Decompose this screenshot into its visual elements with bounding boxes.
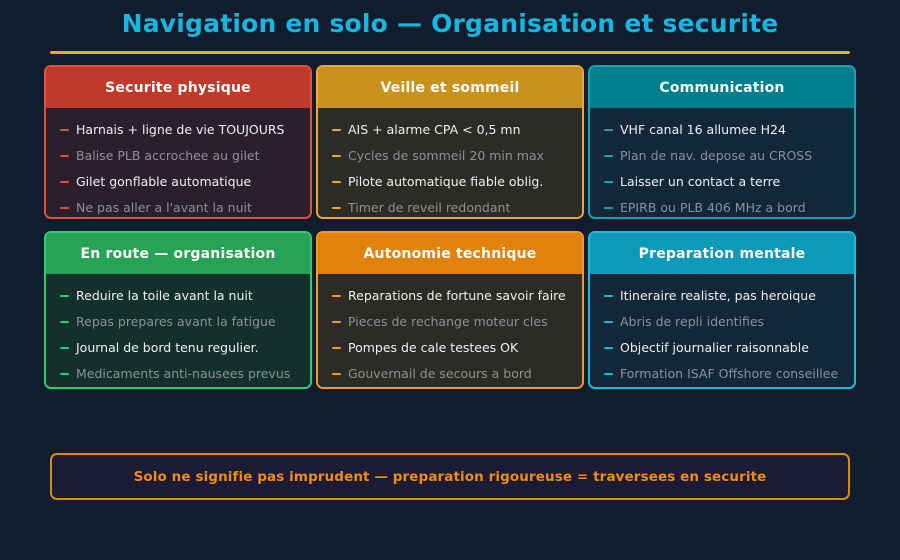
list-item: EPIRB ou PLB 406 MHz a bord xyxy=(590,195,854,219)
list-item: Formation ISAF Offshore conseillee xyxy=(590,361,854,387)
card-item-list: VHF canal 16 allumee H24Plan de nav. dep… xyxy=(590,108,854,219)
list-item: Abris de repli identifies xyxy=(590,309,854,335)
dash-bullet-icon xyxy=(60,373,69,375)
list-item: Timer de reveil redondant xyxy=(318,195,582,219)
list-item-label: Laisser un contact a terre xyxy=(620,169,780,195)
card: Veille et sommeilAIS + alarme CPA < 0,5 … xyxy=(316,65,584,219)
dash-bullet-icon xyxy=(332,181,341,183)
card-header: Communication xyxy=(590,67,854,108)
dash-bullet-icon xyxy=(60,155,69,157)
list-item-label: Pilote automatique fiable oblig. xyxy=(348,169,543,195)
list-item-label: Itineraire realiste, pas heroique xyxy=(620,283,816,309)
dash-bullet-icon xyxy=(604,347,613,349)
dash-bullet-icon xyxy=(604,129,613,131)
dash-bullet-icon xyxy=(604,181,613,183)
list-item: Pilote automatique fiable oblig. xyxy=(318,169,582,195)
list-item-label: Gouvernail de secours a bord xyxy=(348,361,532,387)
list-item: Cycles de sommeil 20 min max xyxy=(318,143,582,169)
card: Preparation mentaleItineraire realiste, … xyxy=(588,231,856,389)
dash-bullet-icon xyxy=(604,321,613,323)
card-title: Communication xyxy=(659,80,784,96)
dash-bullet-icon xyxy=(604,295,613,297)
dash-bullet-icon xyxy=(60,347,69,349)
list-item: Gilet gonflable automatique xyxy=(46,169,310,195)
list-item: Itineraire realiste, pas heroique xyxy=(590,283,854,309)
list-item: Laisser un contact a terre xyxy=(590,169,854,195)
dash-bullet-icon xyxy=(332,347,341,349)
list-item-label: Journal de bord tenu regulier. xyxy=(76,335,259,361)
card-grid: Securite physiqueHarnais + ligne de vie … xyxy=(44,65,856,389)
card-header: Securite physique xyxy=(46,67,310,108)
list-item-label: Medicaments anti-nausees prevus xyxy=(76,361,290,387)
card-item-list: Harnais + ligne de vie TOUJOURSBalise PL… xyxy=(46,108,310,219)
footer-banner: Solo ne signifie pas imprudent — prepara… xyxy=(50,453,850,500)
card-header: Veille et sommeil xyxy=(318,67,582,108)
list-item: Gouvernail de secours a bord xyxy=(318,361,582,387)
list-item-label: Reduire la toile avant la nuit xyxy=(76,283,253,309)
title-block: Navigation en solo — Organisation et sec… xyxy=(0,0,900,54)
list-item-label: Repas prepares avant la fatigue xyxy=(76,309,276,335)
dash-bullet-icon xyxy=(332,295,341,297)
list-item: Journal de bord tenu regulier. xyxy=(46,335,310,361)
page-title: Navigation en solo — Organisation et sec… xyxy=(0,9,900,39)
list-item: Balise PLB accrochee au gilet xyxy=(46,143,310,169)
list-item: Harnais + ligne de vie TOUJOURS xyxy=(46,117,310,143)
card-title: Autonomie technique xyxy=(364,246,537,262)
dash-bullet-icon xyxy=(332,373,341,375)
list-item: Objectif journalier raisonnable xyxy=(590,335,854,361)
card-header: Preparation mentale xyxy=(590,233,854,274)
card-item-list: Reparations de fortune savoir fairePiece… xyxy=(318,274,582,389)
dash-bullet-icon xyxy=(332,129,341,131)
list-item-label: VHF canal 16 allumee H24 xyxy=(620,117,786,143)
list-item-label: Objectif journalier raisonnable xyxy=(620,335,809,361)
list-item: Reparations de fortune savoir faire xyxy=(318,283,582,309)
list-item-label: Cycles de sommeil 20 min max xyxy=(348,143,544,169)
dash-bullet-icon xyxy=(60,129,69,131)
list-item: Pieces de rechange moteur cles xyxy=(318,309,582,335)
list-item-label: Ne pas aller a l'avant la nuit xyxy=(76,195,252,219)
card-item-list: AIS + alarme CPA < 0,5 mnCycles de somme… xyxy=(318,108,582,219)
dash-bullet-icon xyxy=(332,155,341,157)
card-title: Securite physique xyxy=(105,80,251,96)
list-item: Plan de nav. depose au CROSS xyxy=(590,143,854,169)
list-item-label: Abris de repli identifies xyxy=(620,309,764,335)
card-item-list: Reduire la toile avant la nuitRepas prep… xyxy=(46,274,310,389)
list-item-label: AIS + alarme CPA < 0,5 mn xyxy=(348,117,521,143)
card: Autonomie techniqueReparations de fortun… xyxy=(316,231,584,389)
list-item: VHF canal 16 allumee H24 xyxy=(590,117,854,143)
dash-bullet-icon xyxy=(604,155,613,157)
title-underline-rule xyxy=(50,51,850,54)
dash-bullet-icon xyxy=(60,295,69,297)
dash-bullet-icon xyxy=(60,321,69,323)
dash-bullet-icon xyxy=(604,373,613,375)
list-item-label: Reparations de fortune savoir faire xyxy=(348,283,566,309)
list-item-label: Gilet gonflable automatique xyxy=(76,169,251,195)
list-item-label: Balise PLB accrochee au gilet xyxy=(76,143,260,169)
dash-bullet-icon xyxy=(604,207,613,209)
card-header: En route — organisation xyxy=(46,233,310,274)
list-item: Medicaments anti-nausees prevus xyxy=(46,361,310,387)
list-item-label: Timer de reveil redondant xyxy=(348,195,510,219)
slide-root: Navigation en solo — Organisation et sec… xyxy=(0,0,900,560)
card-header: Autonomie technique xyxy=(318,233,582,274)
list-item-label: Pompes de cale testees OK xyxy=(348,335,518,361)
dash-bullet-icon xyxy=(60,181,69,183)
list-item: Ne pas aller a l'avant la nuit xyxy=(46,195,310,219)
list-item: Reduire la toile avant la nuit xyxy=(46,283,310,309)
list-item-label: Plan de nav. depose au CROSS xyxy=(620,143,812,169)
list-item-label: Harnais + ligne de vie TOUJOURS xyxy=(76,117,284,143)
list-item: Pompes de cale testees OK xyxy=(318,335,582,361)
card-title: Veille et sommeil xyxy=(380,80,519,96)
list-item: AIS + alarme CPA < 0,5 mn xyxy=(318,117,582,143)
dash-bullet-icon xyxy=(332,321,341,323)
card: Securite physiqueHarnais + ligne de vie … xyxy=(44,65,312,219)
list-item-label: Formation ISAF Offshore conseillee xyxy=(620,361,838,387)
footer-banner-text: Solo ne signifie pas imprudent — prepara… xyxy=(134,469,767,485)
dash-bullet-icon xyxy=(60,207,69,209)
card: En route — organisationReduire la toile … xyxy=(44,231,312,389)
list-item: Repas prepares avant la fatigue xyxy=(46,309,310,335)
card: CommunicationVHF canal 16 allumee H24Pla… xyxy=(588,65,856,219)
card-title: En route — organisation xyxy=(80,246,275,262)
card-item-list: Itineraire realiste, pas heroiqueAbris d… xyxy=(590,274,854,389)
list-item-label: Pieces de rechange moteur cles xyxy=(348,309,548,335)
card-title: Preparation mentale xyxy=(639,246,806,262)
dash-bullet-icon xyxy=(332,207,341,209)
list-item-label: EPIRB ou PLB 406 MHz a bord xyxy=(620,195,806,219)
